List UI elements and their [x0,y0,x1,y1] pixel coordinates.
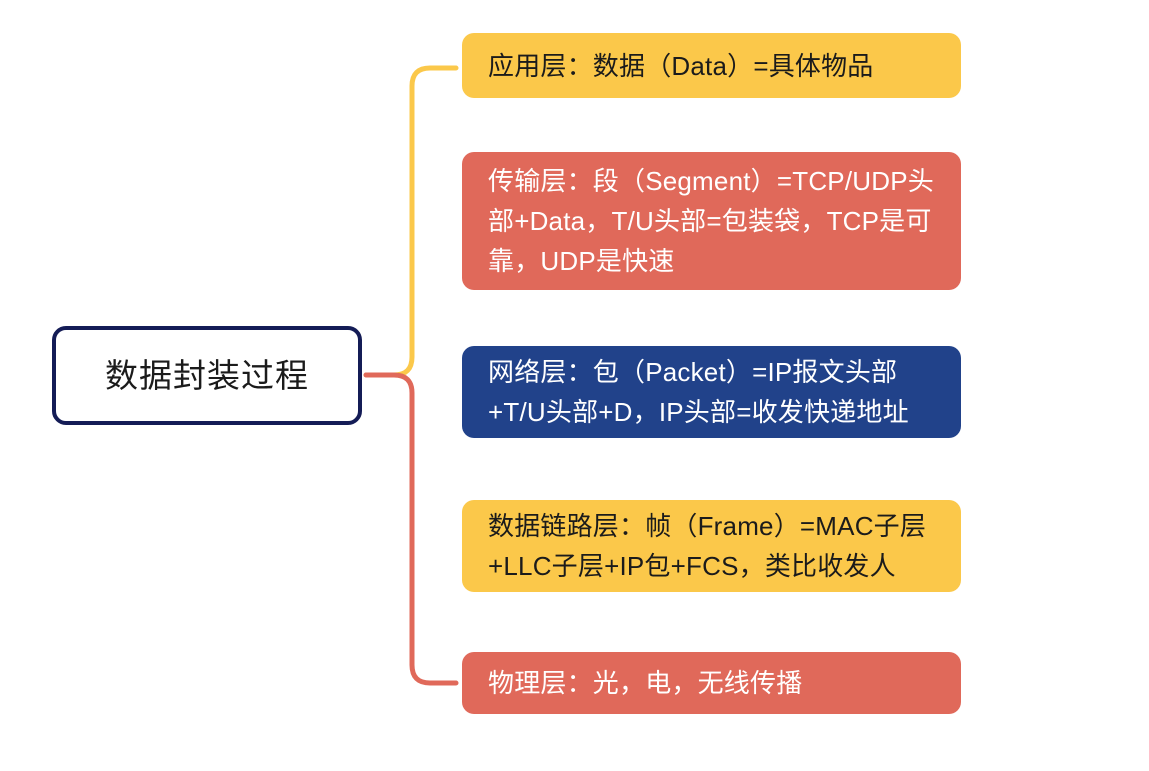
node-datalink-layer[interactable]: 数据链路层：帧（Frame）=MAC子层+LLC子层+IP包+FCS，类比收发人 [462,500,961,592]
node-physical-layer[interactable]: 物理层：光，电，无线传播 [462,652,961,714]
node-application-layer-label: 应用层：数据（Data）=具体物品 [488,46,937,86]
root-node[interactable]: 数据封装过程 [52,326,362,425]
node-network-layer-label: 网络层：包（Packet）=IP报文头部+T/U头部+D，IP头部=收发快递地址 [488,352,937,432]
connector-upper-branch [366,68,456,375]
node-physical-layer-label: 物理层：光，电，无线传播 [488,663,937,703]
node-transport-layer-label: 传输层：段（Segment）=TCP/UDP头部+Data，T/U头部=包装袋，… [488,161,937,281]
node-datalink-layer-label: 数据链路层：帧（Frame）=MAC子层+LLC子层+IP包+FCS，类比收发人 [488,506,937,586]
node-transport-layer[interactable]: 传输层：段（Segment）=TCP/UDP头部+Data，T/U头部=包装袋，… [462,152,961,290]
node-network-layer[interactable]: 网络层：包（Packet）=IP报文头部+T/U头部+D，IP头部=收发快递地址 [462,346,961,438]
root-node-label: 数据封装过程 [105,356,309,396]
node-application-layer[interactable]: 应用层：数据（Data）=具体物品 [462,33,961,98]
connector-lower-branch [366,375,456,683]
diagram-canvas: 数据封装过程 应用层：数据（Data）=具体物品 传输层：段（Segment）=… [0,0,1149,771]
